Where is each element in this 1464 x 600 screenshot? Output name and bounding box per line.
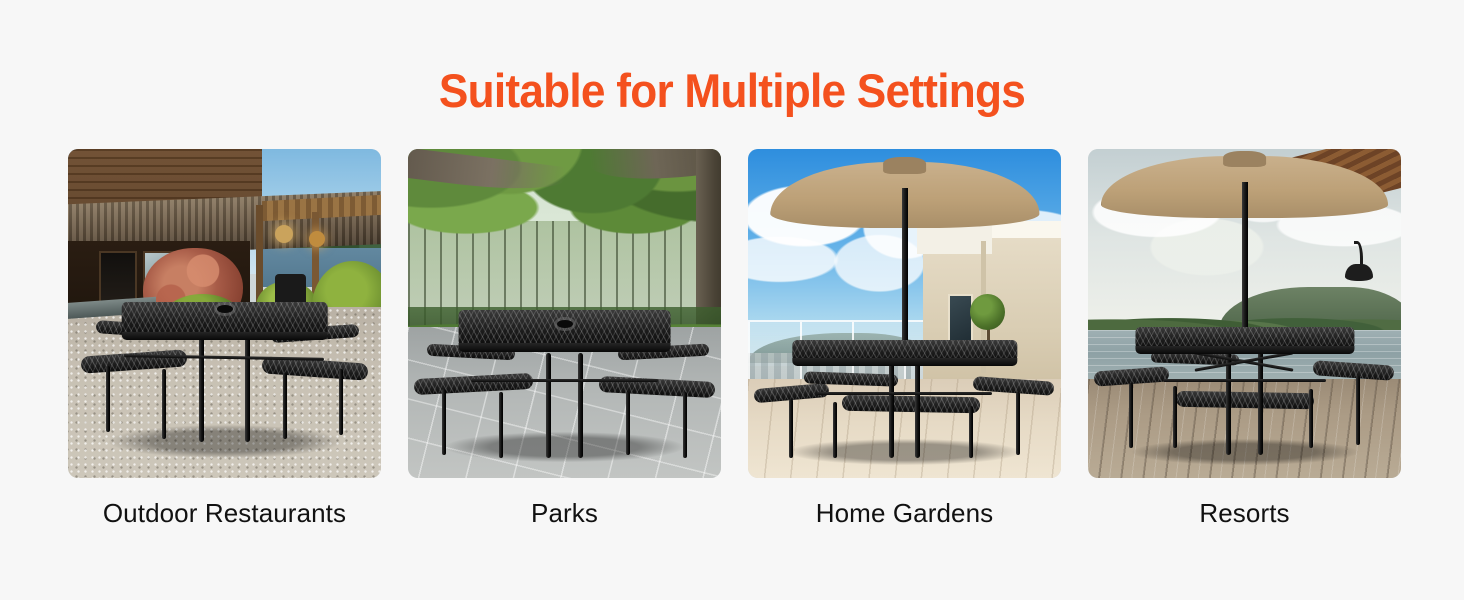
bench-front-left [414,373,534,396]
bench-leg-1 [442,389,446,455]
setting-card-resorts[interactable]: Resorts [1088,149,1401,530]
bench-front [1175,391,1313,410]
table-shadow [1132,439,1357,465]
table-shadow [789,439,1021,465]
table-leg-right [245,333,250,442]
table-leg-left [889,360,894,459]
table-top [458,310,671,346]
settings-card-row: Outdoor Restaurants [68,149,1400,530]
setting-card-home-gardens[interactable]: Home Gardens [748,149,1061,530]
picnic-table [1088,149,1401,478]
bench-leg-2 [1173,386,1177,449]
bench-leg-4 [969,406,973,459]
umbrella-hole [557,320,573,328]
bench-front-left [80,349,187,373]
table-leg-left [546,353,551,458]
bench-leg-1 [789,399,793,458]
setting-caption-resorts: Resorts [1199,496,1289,530]
bench-leg-3 [1016,392,1020,455]
setting-caption-outdoor-restaurants: Outdoor Restaurants [103,496,346,530]
frame-rail [817,392,992,395]
table-edge [792,358,1017,366]
picnic-table [748,149,1061,478]
table-leg-right [915,360,920,459]
setting-photo-parks[interactable] [408,149,721,478]
bench-leg-4 [1309,389,1313,448]
table-shadow [446,432,684,462]
bench-leg-2 [162,369,166,438]
bench-leg-1 [106,366,110,432]
bench-leg-3 [339,369,343,435]
suitable-for-multiple-settings-banner: Suitable for Multiple Settings [0,0,1464,600]
bench-leg-4 [626,392,630,455]
setting-photo-resorts[interactable] [1088,149,1401,478]
bench-leg-3 [683,392,687,458]
setting-caption-home-gardens: Home Gardens [816,496,994,530]
frame-rail [1163,379,1326,382]
bench-leg-1 [1129,383,1133,449]
page-title: Suitable for Multiple Settings [44,62,1420,120]
bench-leg-2 [499,392,503,458]
bench-leg-3 [1356,376,1360,445]
setting-caption-parks: Parks [531,496,598,530]
table-edge [121,332,328,341]
picnic-table [68,149,381,478]
bench-right [1313,360,1395,381]
setting-card-outdoor-restaurants[interactable]: Outdoor Restaurants [68,149,381,530]
umbrella-hole [217,305,233,313]
picnic-table [408,149,721,478]
setting-photo-outdoor-restaurants[interactable] [68,149,381,478]
frame-rail [471,379,659,382]
table-edge [458,343,671,352]
setting-photo-home-gardens[interactable] [748,149,1061,478]
table-shadow [109,425,341,458]
setting-card-parks[interactable]: Parks [408,149,721,530]
table-leg-right [578,353,583,458]
bench-leg-4 [283,373,287,439]
bench-leg-2 [833,402,837,458]
table-leg-left [199,333,204,442]
table-edge [1135,346,1354,354]
bench-front [842,395,980,414]
